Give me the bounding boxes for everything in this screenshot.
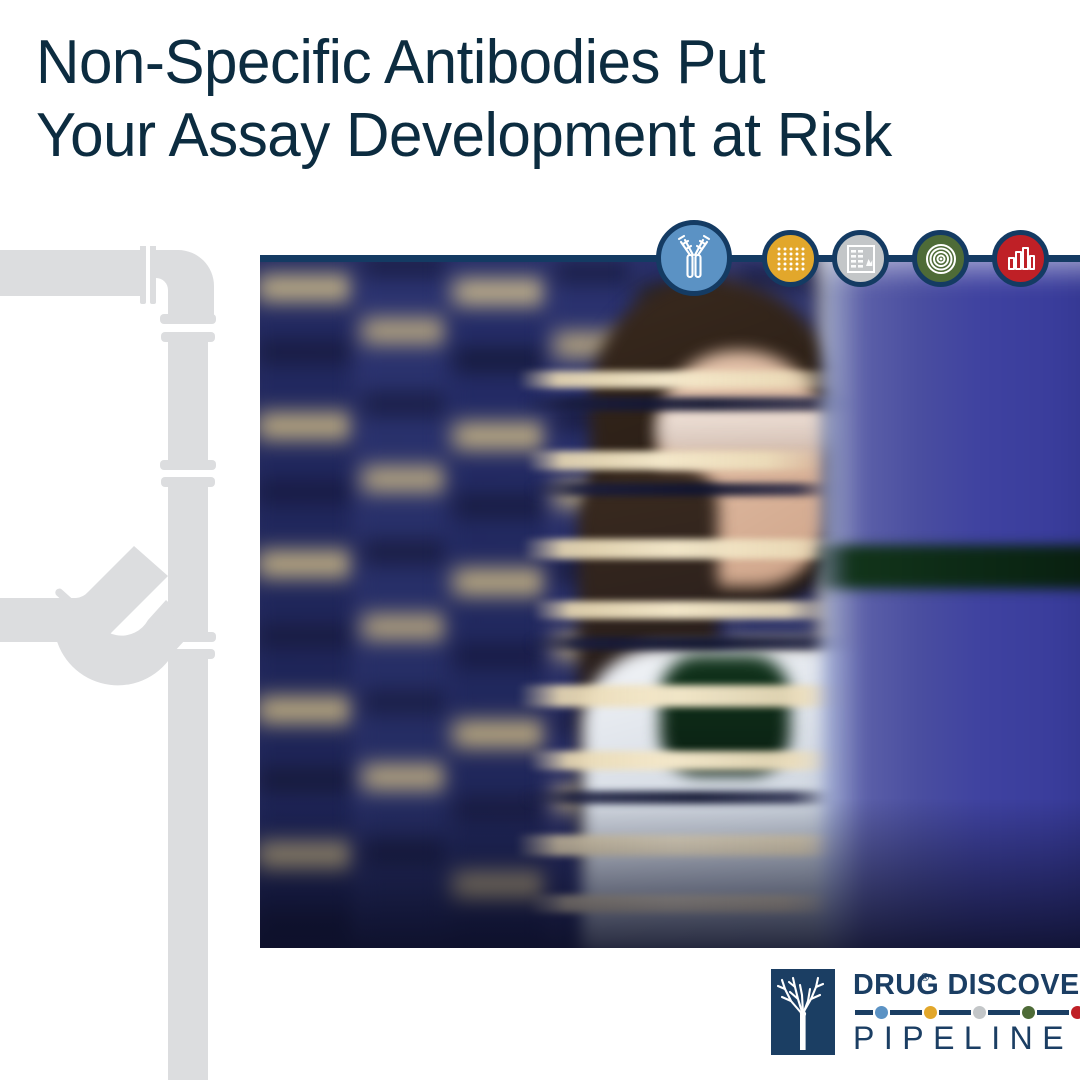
page-title: Non-Specific Antibodies Put Your Assay D… [36,26,1056,172]
safety-glasses [656,405,840,453]
lab-scene-image [260,255,1080,948]
antibody-icon [656,220,732,296]
headline-line-1: Non-Specific Antibodies Put [36,26,1025,99]
social-card: Non-Specific Antibodies Put Your Assay D… [0,0,1080,1080]
bar-chart-icon [992,230,1049,287]
photo-vignette [260,798,1080,948]
logo-dot-2 [924,1006,937,1019]
foreground-streak [518,371,848,388]
headline-line-2: Your Assay Development at Risk [36,99,1025,172]
logo-dot-4 [1022,1006,1035,1019]
logo-dot-3 [973,1006,986,1019]
logo-line-1: DRUG DISCOVERY [853,970,1080,1001]
foreground-streak [522,397,862,411]
foreground-streak [526,637,856,650]
bare-tree-icon [771,969,835,1055]
cylinder-green-band [816,545,1080,589]
foreground-streak [528,483,844,496]
brand-logo: ® DRUG DISCOVERY PIPELINE [771,963,1053,1061]
pipeline-pipes-illustration [0,246,252,1080]
logo-dot-rule [855,1004,1080,1020]
foreground-streak [522,539,862,559]
foreground-streak [526,451,826,470]
hero-photo [260,255,1080,948]
logo-wordmark: ® DRUG DISCOVERY PIPELINE [853,970,1080,1055]
western-blot-icon [832,230,889,287]
foreground-streak [528,751,858,770]
foreground-streak [532,601,850,619]
microplate-icon [762,230,819,287]
target-icon [912,230,969,287]
logo-line-2: PIPELINE [853,1021,1080,1055]
logo-dot-1 [875,1006,888,1019]
logo-dot-5 [1071,1006,1080,1019]
